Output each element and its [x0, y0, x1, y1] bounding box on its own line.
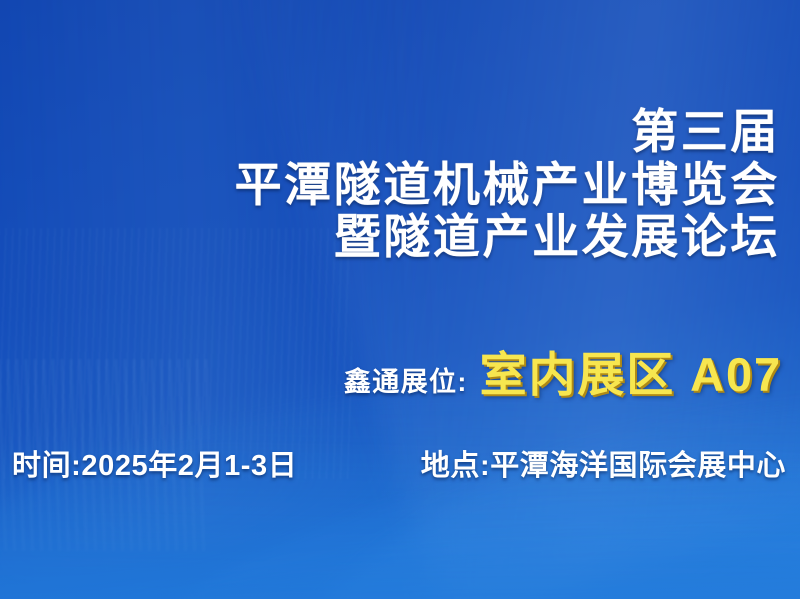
- booth-number: 室内展区 A07: [480, 336, 782, 405]
- event-meta-row: 时间:2025年2月1-3日 地点:平潭海洋国际会展中心: [12, 442, 786, 484]
- booth-label: 鑫通展位:: [344, 360, 468, 399]
- title-line-expo-name: 平潭隧道机械产业博览会: [235, 159, 780, 212]
- event-title-block: 第三届 平潭隧道机械产业博览会 暨隧道产业发展论坛: [235, 106, 780, 264]
- title-line-forum-name: 暨隧道产业发展论坛: [235, 211, 780, 264]
- exhibition-banner: 第三届 平潭隧道机械产业博览会 暨隧道产业发展论坛 鑫通展位: 室内展区 A07…: [0, 0, 800, 599]
- event-date: 时间:2025年2月1-3日: [12, 442, 297, 484]
- banner-content: 第三届 平潭隧道机械产业博览会 暨隧道产业发展论坛 鑫通展位: 室内展区 A07…: [0, 0, 800, 599]
- event-venue: 地点:平潭海洋国际会展中心: [421, 442, 786, 484]
- booth-row: 鑫通展位: 室内展区 A07: [344, 336, 782, 405]
- title-line-edition: 第三届: [235, 106, 780, 159]
